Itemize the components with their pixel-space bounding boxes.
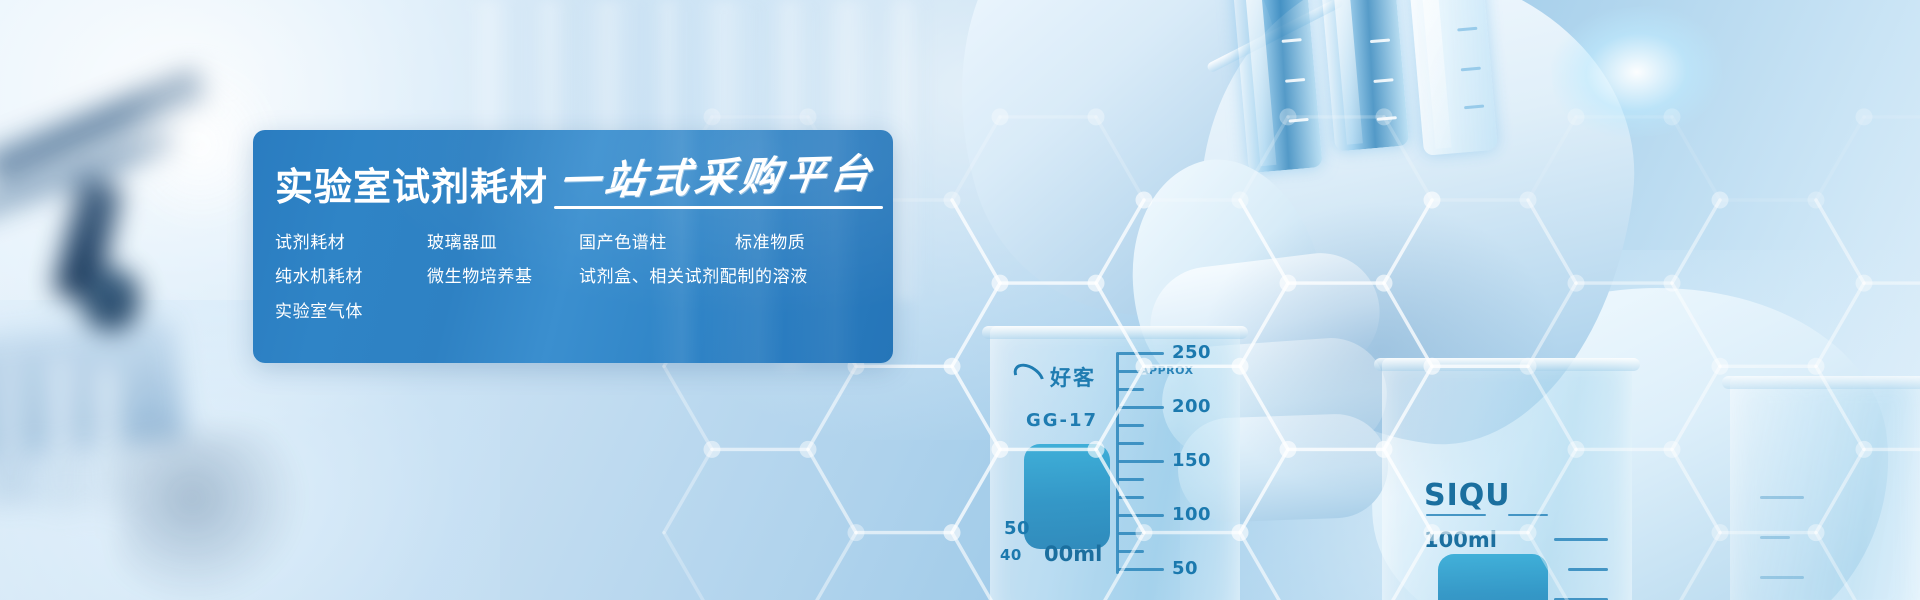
cryovial-tube-group — [1219, 0, 1570, 184]
category-link-reagent-consumables[interactable]: 试剂耗材 — [275, 233, 427, 253]
beaker-group: 好客 GG-17 250 APPROX 200 150 100 50 50 — [990, 300, 1920, 600]
beaker-brand-latin: SIQU — [1424, 478, 1511, 513]
beaker-code: GG-17 — [1026, 410, 1098, 431]
lab-reagent-banner: 好客 GG-17 250 APPROX 200 150 100 50 50 — [0, 0, 1920, 600]
category-link-domestic-chromatography-column[interactable]: 国产色谱柱 — [579, 233, 735, 253]
tube-highlight-glow — [1546, 0, 1727, 144]
beaker-brand-cn: 好客 — [1050, 362, 1096, 392]
beaker-volume-label-2: 100ml — [1424, 528, 1497, 552]
graduated-beaker-background — [1730, 376, 1920, 600]
beaker-small-mark-50: 50 — [1004, 518, 1030, 539]
cryovial-tube — [1315, 0, 1409, 152]
beaker-liquid — [1024, 444, 1110, 549]
category-link-laboratory-gases[interactable]: 实验室气体 — [275, 302, 427, 322]
graduated-beaker-secondary: SIQU 100ml — [1382, 358, 1632, 600]
content-panel: 实验室试剂耗材 一站式采购平台 试剂耗材 玻璃器皿 国产色谱柱 标准物质 纯水机… — [253, 130, 893, 363]
headline: 实验室试剂耗材 一站式采购平台 — [275, 158, 893, 207]
category-link-reference-materials[interactable]: 标准物质 — [735, 233, 805, 253]
beaker-graduation-250: 250 — [1172, 342, 1211, 363]
brand-swirl-icon — [1009, 358, 1049, 396]
beaker-volume-label-1: 00ml — [1044, 542, 1102, 566]
category-link-reagent-kits-solutions[interactable]: 试剂盒、相关试剂配制的溶液 — [579, 267, 808, 287]
beaker-graduation-50: 50 — [1172, 558, 1198, 579]
headline-script-text: 一站式采购平台 — [557, 154, 878, 202]
cryovial-tube — [1403, 0, 1498, 156]
category-link-glassware[interactable]: 玻璃器皿 — [427, 233, 579, 253]
beaker-approx-label: APPROX — [1140, 364, 1194, 377]
category-link-microbial-culture-media[interactable]: 微生物培养基 — [427, 267, 579, 287]
category-link-water-purifier-consumables[interactable]: 纯水机耗材 — [275, 267, 427, 287]
microscope-blur-scene — [0, 0, 270, 600]
graduated-beaker-primary: 好客 GG-17 250 APPROX 200 150 100 50 50 — [990, 326, 1240, 600]
category-row: 试剂耗材 玻璃器皿 国产色谱柱 标准物质 — [275, 233, 893, 253]
headline-underline — [554, 206, 883, 209]
beaker-liquid — [1438, 554, 1548, 600]
beaker-graduation-200: 200 — [1172, 396, 1211, 417]
cryovial-tube — [1227, 0, 1323, 173]
headline-script-wrap: 一站式采购平台 — [560, 158, 875, 207]
beaker-small-mark-40: 40 — [1000, 546, 1022, 564]
beaker-graduation-100: 100 — [1172, 504, 1211, 525]
category-row: 纯水机耗材 微生物培养基 试剂盒、相关试剂配制的溶液 — [275, 267, 893, 287]
category-row: 实验室气体 — [275, 302, 893, 322]
headline-bold-text: 实验室试剂耗材 — [275, 169, 548, 207]
category-link-list: 试剂耗材 玻璃器皿 国产色谱柱 标准物质 纯水机耗材 微生物培养基 试剂盒、相关… — [275, 233, 893, 322]
beaker-graduation-150: 150 — [1172, 450, 1211, 471]
